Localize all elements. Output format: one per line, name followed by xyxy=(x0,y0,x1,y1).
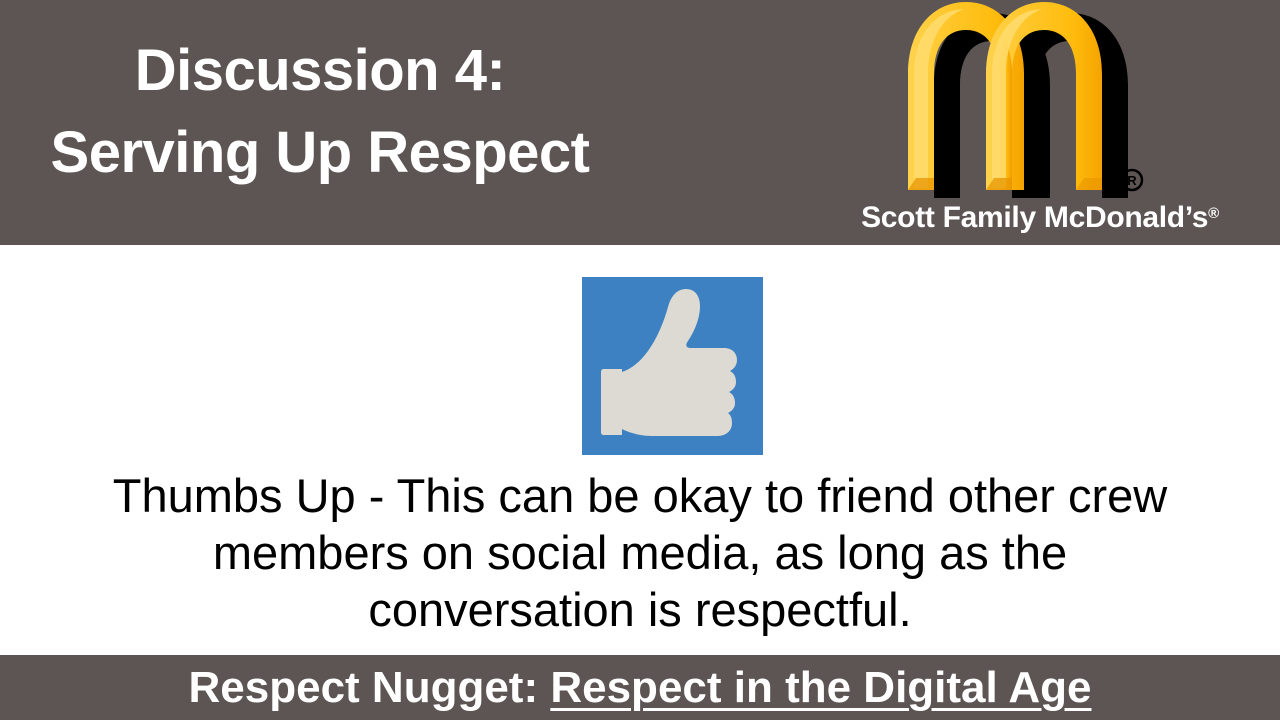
logo-wordmark-trademark: ® xyxy=(1208,205,1219,222)
footer-emphasis: Respect in the Digital Age xyxy=(550,663,1091,712)
caption-text: Thumbs Up - This can be okay to friend o… xyxy=(90,467,1190,638)
thumbs-up-cuff-shape xyxy=(601,369,622,435)
header-bar: Discussion 4: Serving Up Respect xyxy=(0,0,1280,245)
golden-arches-icon: R xyxy=(894,2,1154,198)
slide-title-line-2: Serving Up Respect xyxy=(0,112,640,194)
slide: Discussion 4: Serving Up Respect xyxy=(0,0,1280,720)
logo-wordmark: Scott Family McDonald’s® xyxy=(830,196,1250,236)
main-content: Thumbs Up - This can be okay to friend o… xyxy=(0,245,1280,655)
logo-wordmark-text: Scott Family McDonald’s xyxy=(861,201,1208,234)
footer-bar: Respect Nugget: Respect in the Digital A… xyxy=(0,655,1280,720)
brand-logo: R Scott Family McDonald’s® xyxy=(830,2,1250,242)
footer-text: Respect Nugget: Respect in the Digital A… xyxy=(0,661,1280,715)
thumbs-up-icon xyxy=(582,277,763,455)
slide-title-line-1: Discussion 4: xyxy=(0,30,640,112)
footer-label: Respect Nugget: xyxy=(189,663,539,712)
slide-title: Discussion 4: Serving Up Respect xyxy=(0,30,640,194)
thumbs-up-hand-shape xyxy=(622,289,737,436)
svg-text:R: R xyxy=(1127,173,1137,188)
thumbs-up-image xyxy=(582,277,763,455)
